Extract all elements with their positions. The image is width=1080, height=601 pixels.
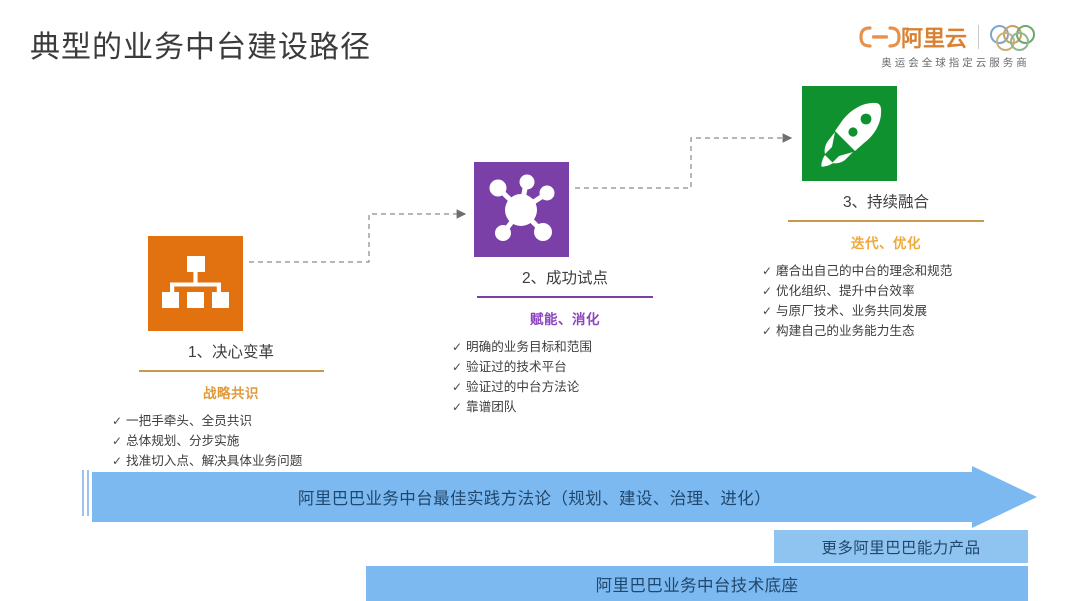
step-card-3[interactable]: 3、持续融合 迭代、优化 ✓ 磨合出自己的中台的理念和规范 ✓ 优化组织、提升中… — [758, 86, 1014, 341]
list-item: ✓ 优化组织、提升中台效率 — [762, 281, 1014, 301]
brand-logo: 阿里云 奥运会全球指定云服务商 — [859, 22, 1052, 70]
step-divider — [477, 296, 653, 298]
brand-divider — [978, 25, 979, 49]
more-products-bar[interactable]: 更多阿里巴巴能力产品 — [774, 530, 1028, 563]
step-title: 3、持续融合 — [758, 190, 1014, 212]
list-item: ✓ 验证过的中台方法论 — [452, 377, 690, 397]
step-card-1[interactable]: 1、决心变革 战略共识 ✓ 一把手牵头、全员共识 ✓ 总体规划、分步实施 ✓ 找… — [106, 236, 356, 471]
list-item-label: 总体规划、分步实施 — [126, 431, 239, 451]
list-item: ✓ 验证过的技术平台 — [452, 357, 690, 377]
methodology-arrow-label: 阿里巴巴业务中台最佳实践方法论（规划、建设、治理、进化） — [298, 485, 771, 509]
methodology-arrow-bar[interactable]: 阿里巴巴业务中台最佳实践方法论（规划、建设、治理、进化） — [92, 466, 1037, 528]
check-icon: ✓ — [762, 321, 776, 341]
step-title: 2、成功试点 — [440, 266, 690, 288]
brand-logo-row: 阿里云 — [859, 22, 1052, 52]
list-item: ✓ 一把手牵头、全员共识 — [112, 411, 356, 431]
list-item-label: 一把手牵头、全员共识 — [126, 411, 252, 431]
list-item: ✓ 总体规划、分步实施 — [112, 431, 356, 451]
check-icon: ✓ — [452, 397, 466, 417]
more-products-label: 更多阿里巴巴能力产品 — [821, 536, 980, 558]
list-item: ✓ 磨合出自己的中台的理念和规范 — [762, 261, 1014, 281]
network-hub-icon — [474, 162, 569, 257]
brand-tagline: 奥运会全球指定云服务商 — [881, 55, 1030, 70]
step-card-2[interactable]: 2、成功试点 赋能、消化 ✓ 明确的业务目标和范围 ✓ 验证过的技术平台 ✓ 验… — [440, 162, 690, 417]
check-icon: ✓ — [762, 301, 776, 321]
step-title: 1、决心变革 — [106, 340, 356, 362]
step-subtitle: 战略共识 — [106, 382, 356, 402]
list-item: ✓ 构建自己的业务能力生态 — [762, 321, 1014, 341]
list-item-label: 靠谱团队 — [466, 397, 516, 417]
org-chart-icon — [148, 236, 243, 331]
list-item-label: 优化组织、提升中台效率 — [776, 281, 915, 301]
list-item-label: 构建自己的业务能力生态 — [776, 321, 915, 341]
olympic-rings-icon — [990, 24, 1052, 50]
check-icon: ✓ — [452, 377, 466, 397]
list-item: ✓ 与原厂技术、业务共同发展 — [762, 301, 1014, 321]
step-bullet-list: ✓ 明确的业务目标和范围 ✓ 验证过的技术平台 ✓ 验证过的中台方法论 ✓ 靠谱… — [452, 337, 690, 417]
step-divider — [139, 370, 324, 372]
check-icon: ✓ — [762, 261, 776, 281]
check-icon: ✓ — [112, 411, 126, 431]
step-divider — [788, 220, 984, 222]
tech-foundation-label: 阿里巴巴业务中台技术底座 — [596, 572, 799, 596]
list-item: ✓ 明确的业务目标和范围 — [452, 337, 690, 357]
rocket-icon — [802, 86, 897, 181]
alibaba-cloud-logo-icon — [859, 25, 901, 49]
tech-foundation-bar[interactable]: 阿里巴巴业务中台技术底座 — [366, 566, 1028, 601]
check-icon: ✓ — [762, 281, 776, 301]
slide-canvas: 典型的业务中台建设路径 阿里云 奥运会全球指定云服务商 — [0, 0, 1080, 601]
step-subtitle: 迭代、优化 — [758, 232, 1014, 252]
list-item-label: 与原厂技术、业务共同发展 — [776, 301, 927, 321]
step-bullet-list: ✓ 一把手牵头、全员共识 ✓ 总体规划、分步实施 ✓ 找准切入点、解决具体业务问… — [112, 411, 356, 471]
step-subtitle: 赋能、消化 — [440, 308, 690, 328]
list-item-label: 磨合出自己的中台的理念和规范 — [776, 261, 952, 281]
check-icon: ✓ — [452, 357, 466, 377]
page-title: 典型的业务中台建设路径 — [30, 22, 371, 66]
step-bullet-list: ✓ 磨合出自己的中台的理念和规范 ✓ 优化组织、提升中台效率 ✓ 与原厂技术、业… — [762, 261, 1014, 341]
check-icon: ✓ — [112, 431, 126, 451]
list-item-label: 验证过的技术平台 — [466, 357, 567, 377]
list-item-label: 验证过的中台方法论 — [466, 377, 579, 397]
list-item: ✓ 靠谱团队 — [452, 397, 690, 417]
check-icon: ✓ — [452, 337, 466, 357]
brand-name: 阿里云 — [901, 21, 967, 53]
list-item-label: 明确的业务目标和范围 — [466, 337, 592, 357]
